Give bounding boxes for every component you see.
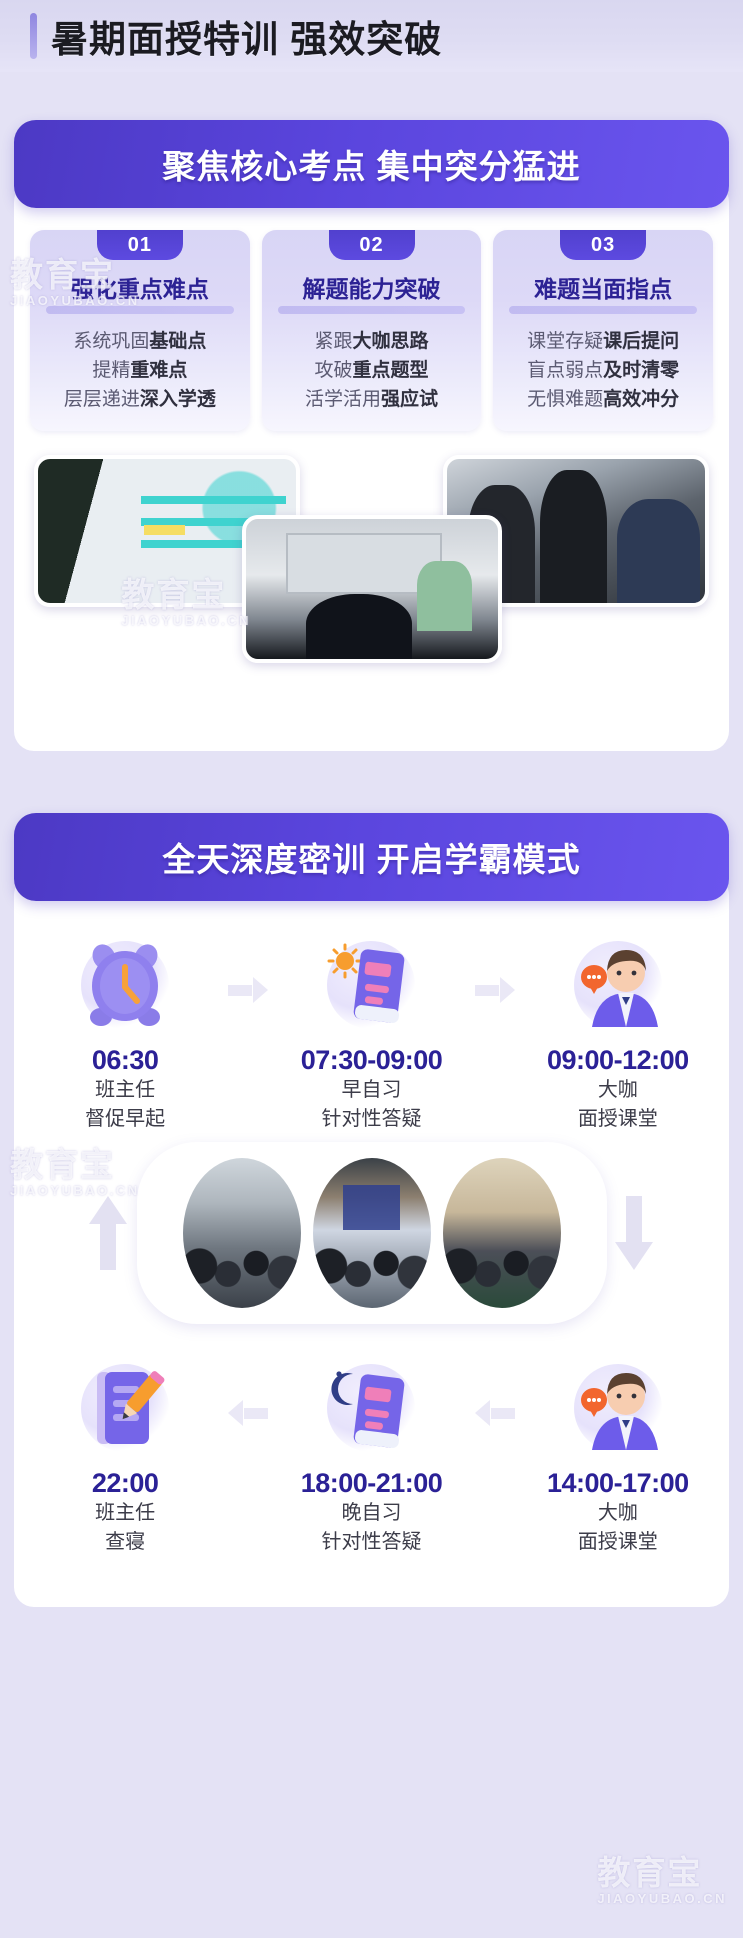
feature-line-plain: 提精 (92, 360, 130, 381)
lecture-hall-photo (242, 515, 502, 663)
feature-line-plain: 活学活用 (305, 389, 381, 410)
arrow-left-icon (222, 1400, 274, 1426)
page-header: 暑期面授特训 强效突破 (0, 0, 743, 72)
arrow-up-icon (89, 1196, 129, 1270)
feature-line: 提精重难点 (36, 357, 244, 386)
schedule-item[interactable]: 09:00-12:00 大咖 面授课堂 (521, 931, 715, 1134)
sun-book-icon (317, 931, 425, 1039)
feature-badge-number: 02 (359, 234, 383, 257)
schedule-line1: 大咖 (521, 1076, 715, 1105)
teacher-chat-icon (564, 1354, 672, 1462)
schedule-line2: 针对性答疑 (274, 1528, 468, 1557)
feature-badge-number: 01 (128, 234, 152, 257)
feature-line-plain: 层层递进 (64, 389, 140, 410)
schedule-item[interactable]: 18:00-21:00 晚自习 针对性答疑 (274, 1354, 468, 1557)
photo-collage (30, 449, 713, 685)
schedule-time: 22:00 (28, 1468, 222, 1499)
schedule-item[interactable]: 22:00 班主任 查寝 (28, 1354, 222, 1557)
watermark: 教育宝 JIAOYUBAO.CN (597, 1856, 727, 1905)
feature-card-title: 强化重点难点 (36, 270, 244, 304)
feature-line-bold: 课后提问 (603, 331, 679, 352)
notebook-pencil-icon (71, 1354, 179, 1462)
feature-line-bold: 高效冲分 (603, 389, 679, 410)
arrow-right-icon (222, 977, 274, 1003)
schedule-line1: 晚自习 (274, 1499, 468, 1528)
schedule-line2: 面授课堂 (521, 1105, 715, 1134)
schedule-line1: 班主任 (28, 1499, 222, 1528)
watermark-cn: 教育宝 (597, 1856, 727, 1889)
feature-card-title: 难题当面指点 (499, 270, 707, 304)
feature-line: 无惧难题高效冲分 (499, 386, 707, 415)
foreground-head-silhouette (306, 594, 412, 658)
arrow-down-icon (615, 1196, 655, 1270)
person-silhouette (417, 561, 472, 631)
schedule-time: 09:00-12:00 (521, 1045, 715, 1076)
feature-line-bold: 深入学透 (140, 389, 216, 410)
schedule-row-morning: 06:30 班主任 督促早起 (14, 931, 729, 1134)
schedule-item[interactable]: 07:30-09:00 早自习 针对性答疑 (274, 931, 468, 1134)
schedule-time: 07:30-09:00 (274, 1045, 468, 1076)
feature-line-plain: 攻破 (314, 360, 352, 381)
feature-line: 攻破重点题型 (268, 357, 476, 386)
feature-line-plain: 系统巩固 (73, 331, 149, 352)
section1-header-bar: 聚焦核心考点 集中突分猛进 (14, 120, 729, 208)
section2-body: 06:30 班主任 督促早起 (14, 875, 729, 1607)
moon-book-icon (317, 1354, 425, 1462)
schedule-line2: 查寝 (28, 1528, 222, 1557)
schedule-line2: 针对性答疑 (274, 1105, 468, 1134)
section-daily-schedule: 全天深度密训 开启学霸模式 06:30 (14, 813, 729, 1607)
feature-line-bold: 基础点 (149, 331, 206, 352)
alarm-clock-icon (71, 931, 179, 1039)
feature-card-row: 01 强化重点难点 系统巩固基础点 提精重难点 层层递进深入学透 02 解题能力… (14, 230, 729, 431)
feature-line-plain: 无惧难题 (527, 389, 603, 410)
watermark-en: JIAOYUBAO.CN (597, 1892, 727, 1905)
highlight-decoration (144, 525, 185, 535)
schedule-line1: 班主任 (28, 1076, 222, 1105)
section1-body: 01 强化重点难点 系统巩固基础点 提精重难点 层层递进深入学透 02 解题能力… (14, 182, 729, 751)
schedule-line1: 早自习 (274, 1076, 468, 1105)
feature-card-lines: 系统巩固基础点 提精重难点 层层递进深入学透 (36, 328, 244, 415)
photo-strip (137, 1142, 607, 1324)
arrow-right-icon (469, 977, 521, 1003)
feature-badge-number: 03 (591, 234, 615, 257)
header-accent-bar (30, 13, 37, 59)
title-underline (46, 306, 234, 314)
board-lines-decoration (141, 496, 285, 504)
feature-line: 系统巩固基础点 (36, 328, 244, 357)
page-title: 暑期面授特训 强效突破 (51, 9, 442, 63)
section2-heading: 全天深度密训 开启学霸模式 (162, 833, 580, 881)
feature-card-title: 解题能力突破 (268, 270, 476, 304)
feature-card-lines: 课堂存疑课后提问 盲点弱点及时清零 无惧难题高效冲分 (499, 328, 707, 415)
feature-line: 课堂存疑课后提问 (499, 328, 707, 357)
schedule-row-evening: 22:00 班主任 查寝 (14, 1354, 729, 1557)
feature-line: 紧跟大咖思路 (268, 328, 476, 357)
schedule-time: 18:00-21:00 (274, 1468, 468, 1499)
feature-card-lines: 紧跟大咖思路 攻破重点题型 活学活用强应试 (268, 328, 476, 415)
section1-heading: 聚焦核心考点 集中突分猛进 (162, 140, 580, 188)
feature-line-bold: 重点题型 (353, 360, 429, 381)
feature-card[interactable]: 01 强化重点难点 系统巩固基础点 提精重难点 层层递进深入学透 (30, 230, 250, 431)
schedule-line2: 督促早起 (28, 1105, 222, 1134)
group-discussion-photo (443, 1158, 561, 1308)
feature-line-bold: 及时清零 (603, 360, 679, 381)
schedule-line1: 大咖 (521, 1499, 715, 1528)
big-lecture-photo (313, 1158, 431, 1308)
feature-badge: 03 (560, 230, 646, 260)
section2-header-bar: 全天深度密训 开启学霸模式 (14, 813, 729, 901)
study-hall-photo (183, 1158, 301, 1308)
photo-strip-row (28, 1142, 715, 1324)
student-silhouette (617, 499, 700, 603)
schedule-line2: 面授课堂 (521, 1528, 715, 1557)
title-underline (509, 306, 697, 314)
schedule-item[interactable]: 14:00-17:00 大咖 面授课堂 (521, 1354, 715, 1557)
feature-line: 层层递进深入学透 (36, 386, 244, 415)
schedule-time: 14:00-17:00 (521, 1468, 715, 1499)
feature-line: 盲点弱点及时清零 (499, 357, 707, 386)
feature-line-plain: 盲点弱点 (527, 360, 603, 381)
feature-line-plain: 课堂存疑 (527, 331, 603, 352)
schedule-time: 06:30 (28, 1045, 222, 1076)
feature-line: 活学活用强应试 (268, 386, 476, 415)
feature-line-plain: 紧跟 (314, 331, 352, 352)
title-underline (278, 306, 466, 314)
feature-badge: 02 (329, 230, 415, 260)
feature-card[interactable]: 02 解题能力突破 紧跟大咖思路 攻破重点题型 活学活用强应试 (262, 230, 482, 431)
feature-line-bold: 重难点 (130, 360, 187, 381)
feature-card[interactable]: 03 难题当面指点 课堂存疑课后提问 盲点弱点及时清零 无惧难题高效冲分 (493, 230, 713, 431)
arrow-left-icon (469, 1400, 521, 1426)
feature-line-bold: 强应试 (381, 389, 438, 410)
feature-badge: 01 (97, 230, 183, 260)
teacher-chat-icon (564, 931, 672, 1039)
student-silhouette (540, 470, 607, 602)
schedule-item[interactable]: 06:30 班主任 督促早起 (28, 931, 222, 1134)
section-core-exam-points: 聚焦核心考点 集中突分猛进 01 强化重点难点 系统巩固基础点 提精重难点 层层… (14, 120, 729, 751)
feature-line-bold: 大咖思路 (353, 331, 429, 352)
